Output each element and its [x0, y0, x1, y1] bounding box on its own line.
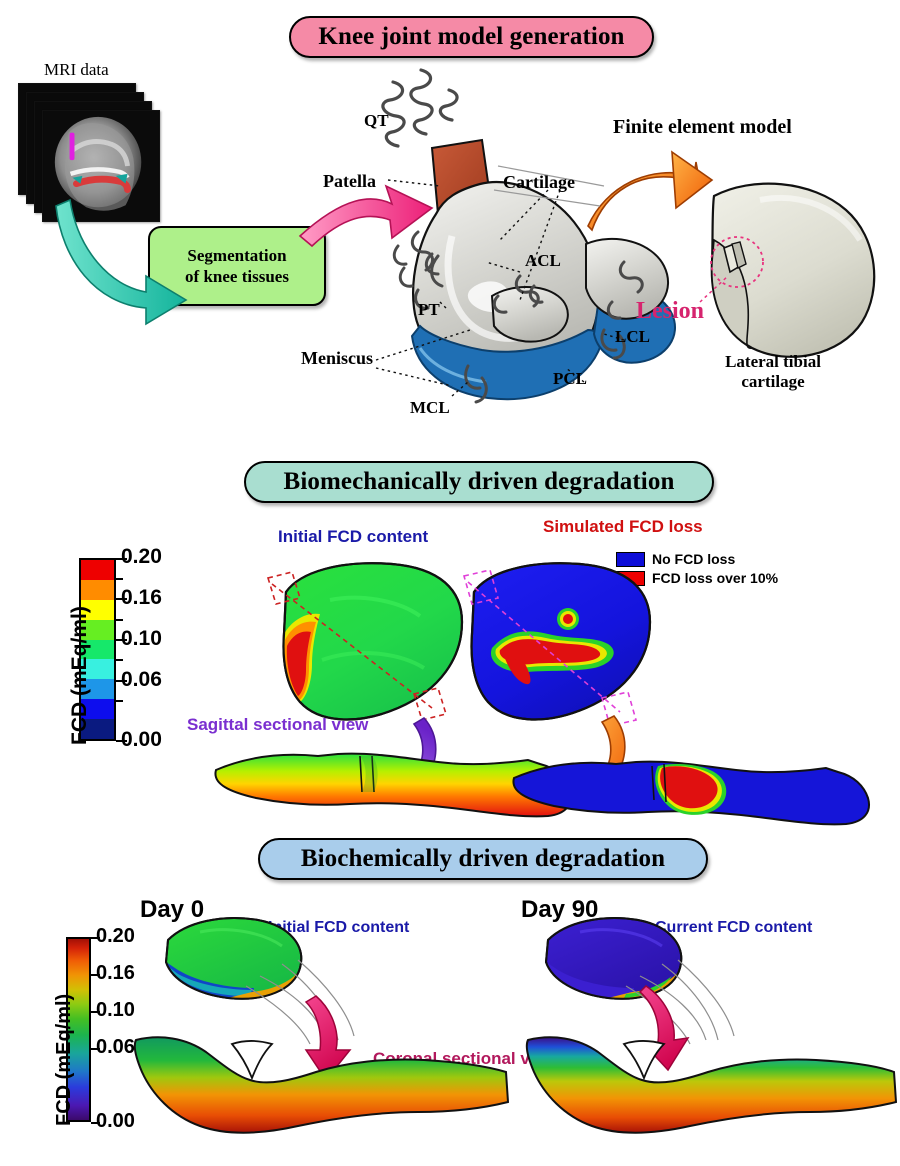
- middle-colorbar-tick-0-06: 0.06: [121, 668, 162, 692]
- bottom-colorbar-title: FCD (mEq/ml): [53, 994, 76, 1126]
- coronal-sectional-view-label: Coronal sectional view: [373, 1049, 557, 1069]
- day90-section-guides: [626, 960, 734, 1044]
- middle-colorbar-tick-0-00: 0.00: [121, 728, 162, 752]
- segmentation-line-1: Segmentation: [187, 245, 286, 266]
- day-0-label: Day 0: [140, 896, 204, 924]
- banner-knee-joint-model-generation: Knee joint model generation: [289, 16, 654, 58]
- femoral-cartilage-graphic: [413, 182, 599, 382]
- label-lesion: Lesion: [636, 298, 704, 325]
- sagittal-section-initial: [215, 754, 571, 817]
- right-cut-plane: [464, 570, 636, 726]
- bottom-colorbar-tick-0-16: 0.16: [96, 962, 135, 985]
- bottom-initial-fcd-title: Initial FCD content: [268, 919, 409, 937]
- middle-initial-fcd-title: Initial FCD content: [278, 527, 428, 547]
- initial-fcd-cartilage-surface: [284, 563, 462, 719]
- sagittal-sectional-view-label: Sagittal sectional view: [187, 715, 368, 735]
- label-patella: Patella: [323, 171, 376, 192]
- bottom-colorbar-tick-0-20: 0.20: [96, 925, 135, 948]
- lateral-tibial-cartilage-line-2: cartilage: [741, 372, 804, 391]
- patella-graphic: [432, 140, 492, 230]
- label-mcl: MCL: [410, 398, 450, 418]
- segmentation-line-2: of knee tissues: [185, 266, 289, 287]
- label-pt: PT: [418, 300, 440, 320]
- purple-arrow-icon: [396, 718, 436, 802]
- day-90-label: Day 90: [521, 896, 598, 924]
- middle-colorbar-title: FCD (mEq/ml): [68, 606, 92, 745]
- legend-item-no-fcd-loss: No FCD loss: [616, 551, 778, 567]
- finite-element-model-title: Finite element model: [613, 116, 792, 139]
- figure-root: Knee joint model generation MRI data: [0, 0, 900, 1166]
- banner-biomechanically-driven-degradation: Biomechanically driven degradation: [244, 461, 714, 503]
- bottom-colorbar-tick-0-00: 0.00: [96, 1110, 135, 1133]
- legend-item-fcd-loss-over-10: FCD loss over 10%: [616, 570, 778, 586]
- fcd-loss-legend: No FCD loss FCD loss over 10%: [616, 551, 778, 589]
- bottom-colorbar-tick-0-10: 0.10: [96, 999, 135, 1022]
- middle-simulated-fcd-loss-title: Simulated FCD loss: [543, 517, 703, 537]
- segmentation-box: Segmentation of knee tissues: [148, 226, 326, 306]
- label-meniscus: Meniscus: [301, 348, 373, 369]
- label-lateral-tibial-cartilage: Lateral tibial cartilage: [713, 352, 833, 391]
- label-qt: QT: [364, 111, 389, 131]
- bottom-colorbar-tick-0-06: 0.06: [96, 1036, 135, 1059]
- lateral-tibial-cartilage-line-1: Lateral tibial: [725, 352, 821, 371]
- left-cut-plane: [268, 572, 446, 720]
- sagittal-section-simulated: [513, 762, 869, 825]
- mri-data-label: MRI data: [44, 60, 109, 80]
- day0-section-guides: [246, 960, 354, 1044]
- legend-label-fcd-loss-over-10: FCD loss over 10%: [652, 570, 778, 586]
- bottom-current-fcd-title: Current FCD content: [655, 919, 812, 937]
- banner-biochemically-driven-degradation: Biochemically driven degradation: [258, 838, 708, 880]
- label-acl: ACL: [525, 251, 561, 271]
- legend-swatch-no-fcd-loss: [616, 552, 645, 567]
- annotation-leader-lines: [376, 180, 624, 396]
- label-pcl: PCL: [553, 369, 587, 389]
- middle-colorbar-tick-0-16: 0.16: [121, 586, 162, 610]
- label-lcl: LCL: [615, 327, 650, 347]
- legend-swatch-fcd-loss-over-10: [616, 571, 645, 586]
- label-cartilage: Cartilage: [503, 172, 575, 193]
- fem-lateral-tibial-cartilage-graphic: [700, 184, 874, 357]
- middle-colorbar-tick-0-10: 0.10: [121, 627, 162, 651]
- day90-coronal-section: [527, 1037, 896, 1132]
- orange-arrow-icon: [588, 152, 712, 230]
- day0-pink-arrow-icon: [306, 996, 350, 1080]
- quadriceps-tendon-graphic: [383, 70, 457, 146]
- legend-label-no-fcd-loss: No FCD loss: [652, 551, 735, 567]
- orange-arrow-icon-middle: [584, 716, 625, 802]
- middle-colorbar-tick-0-20: 0.20: [121, 545, 162, 569]
- day90-pink-arrow-icon: [640, 986, 688, 1070]
